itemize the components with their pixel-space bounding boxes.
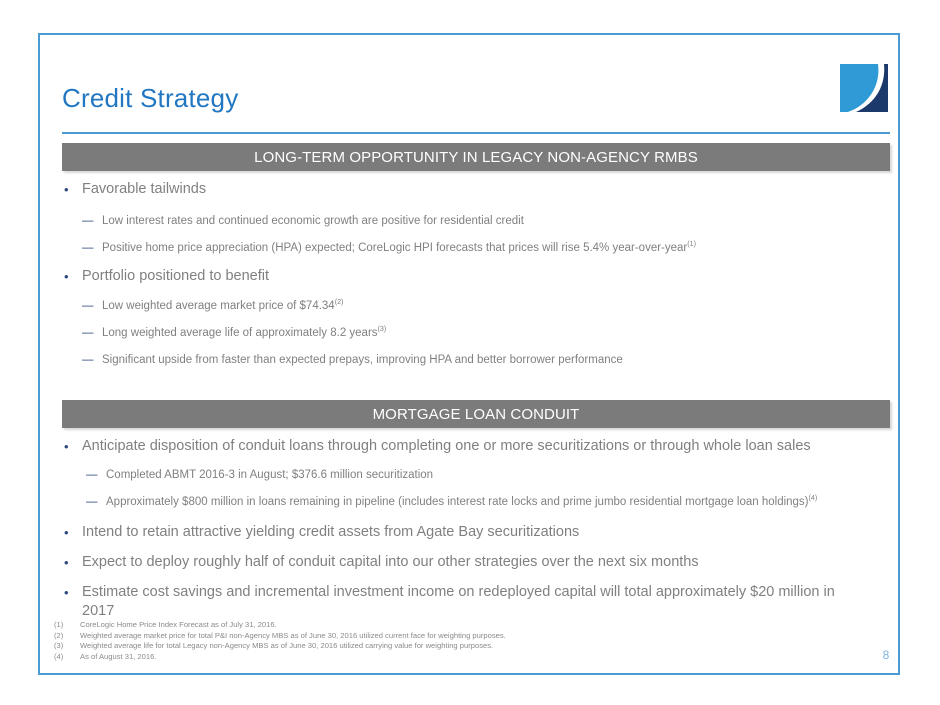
list-item-text: Favorable tailwinds bbox=[82, 180, 864, 199]
footnote-text: Weighted average life for total Legacy n… bbox=[80, 641, 754, 652]
list-item: • Estimate cost savings and incremental … bbox=[64, 583, 869, 621]
list-item-text: Expect to deploy roughly half of conduit… bbox=[82, 553, 874, 572]
list-item: • Expect to deploy roughly half of condu… bbox=[64, 553, 874, 572]
list-item-text: Anticipate disposition of conduit loans … bbox=[82, 437, 874, 456]
company-logo bbox=[840, 64, 888, 112]
list-item-text: Completed ABMT 2016-3 in August; $376.6 … bbox=[106, 467, 886, 483]
dash-marker: — bbox=[82, 352, 102, 368]
footnote-ref: (1) bbox=[687, 240, 696, 248]
section-band-mortgage-loan-conduit: MORTGAGE LOAN CONDUIT bbox=[62, 400, 890, 428]
footnote-item: (2) Weighted average market price for to… bbox=[54, 631, 754, 642]
footnote-text: As of August 31, 2016. bbox=[80, 652, 754, 663]
footnotes: (1) CoreLogic Home Price Index Forecast … bbox=[54, 620, 754, 662]
bullet-marker: • bbox=[64, 583, 82, 602]
dash-marker: — bbox=[86, 467, 106, 483]
list-item-text: Significant upside from faster than expe… bbox=[102, 352, 872, 368]
list-item: — Long weighted average life of approxim… bbox=[82, 325, 872, 341]
list-item: — Positive home price appreciation (HPA)… bbox=[82, 240, 872, 256]
list-item-text: Intend to retain attractive yielding cre… bbox=[82, 523, 874, 542]
dash-marker: — bbox=[82, 213, 102, 229]
slide-frame: Credit Strategy LONG-TERM OPPORTUNITY IN… bbox=[38, 33, 900, 675]
title-divider bbox=[62, 132, 890, 134]
footnote-number: (3) bbox=[54, 641, 80, 652]
footnote-ref: (3) bbox=[378, 325, 387, 333]
list-item: • Intend to retain attractive yielding c… bbox=[64, 523, 874, 542]
list-item-text: Portfolio positioned to benefit bbox=[82, 267, 864, 286]
list-item: — Approximately $800 million in loans re… bbox=[86, 494, 891, 510]
list-item: — Low weighted average market price of $… bbox=[82, 298, 872, 314]
list-item: — Significant upside from faster than ex… bbox=[82, 352, 872, 368]
footnote-number: (1) bbox=[54, 620, 80, 631]
list-item: — Completed ABMT 2016-3 in August; $376.… bbox=[86, 467, 886, 483]
bullet-marker: • bbox=[64, 180, 82, 199]
footnote-ref: (2) bbox=[335, 298, 344, 306]
dash-marker: — bbox=[82, 240, 102, 256]
dash-marker: — bbox=[82, 298, 102, 314]
page-number: 8 bbox=[876, 648, 896, 662]
footnote-text: CoreLogic Home Price Index Forecast as o… bbox=[80, 620, 754, 631]
footnote-item: (4) As of August 31, 2016. bbox=[54, 652, 754, 663]
list-item-text: Positive home price appreciation (HPA) e… bbox=[102, 240, 872, 256]
bullet-marker: • bbox=[64, 523, 82, 542]
list-item: — Low interest rates and continued econo… bbox=[82, 213, 872, 229]
section-band-long-term-opportunity: LONG-TERM OPPORTUNITY IN LEGACY NON-AGEN… bbox=[62, 143, 890, 171]
list-item-text: Estimate cost savings and incremental in… bbox=[82, 583, 869, 621]
footnote-ref: (4) bbox=[809, 494, 818, 502]
list-item: • Favorable tailwinds bbox=[64, 180, 864, 199]
list-item-text: Low weighted average market price of $74… bbox=[102, 298, 872, 314]
list-item-text: Long weighted average life of approximat… bbox=[102, 325, 872, 341]
footnote-number: (4) bbox=[54, 652, 80, 663]
footnote-item: (3) Weighted average life for total Lega… bbox=[54, 641, 754, 652]
bullet-marker: • bbox=[64, 437, 82, 456]
list-item-text: Approximately $800 million in loans rema… bbox=[106, 494, 891, 510]
dash-marker: — bbox=[86, 494, 106, 510]
bullet-marker: • bbox=[64, 267, 82, 286]
footnote-text: Weighted average market price for total … bbox=[80, 631, 754, 642]
footnote-number: (2) bbox=[54, 631, 80, 642]
page-title: Credit Strategy bbox=[62, 83, 238, 114]
footnote-item: (1) CoreLogic Home Price Index Forecast … bbox=[54, 620, 754, 631]
bullet-marker: • bbox=[64, 553, 82, 572]
list-item: • Portfolio positioned to benefit bbox=[64, 267, 864, 286]
list-item-text: Low interest rates and continued economi… bbox=[102, 213, 872, 229]
list-item: • Anticipate disposition of conduit loan… bbox=[64, 437, 874, 456]
dash-marker: — bbox=[82, 325, 102, 341]
